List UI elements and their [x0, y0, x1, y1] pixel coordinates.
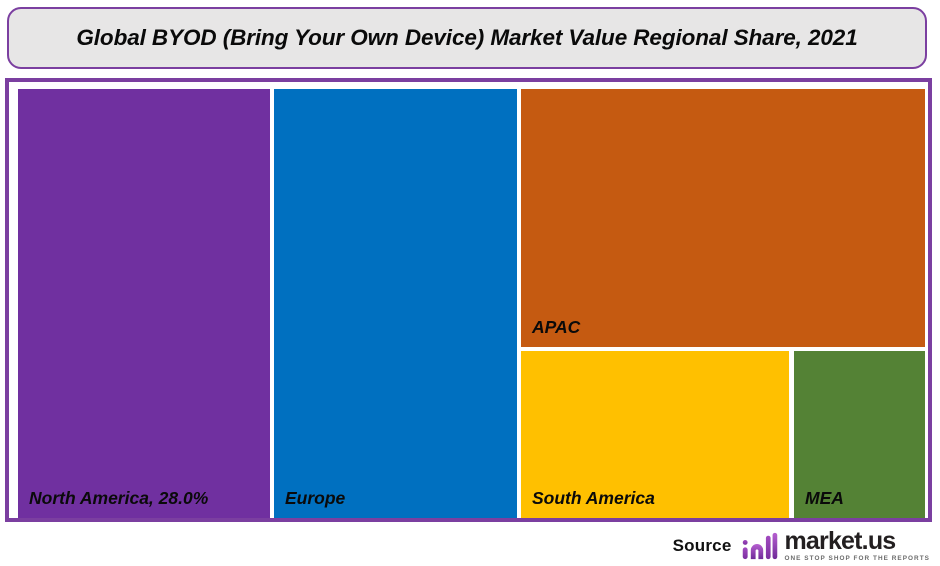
source-attribution: Source [673, 529, 930, 563]
treemap-plot-area: North America, 28.0% Europe APAC South A… [9, 82, 936, 526]
treemap-tile-north-america[interactable]: North America, 28.0% [18, 89, 270, 518]
treemap-tile-label-apac: APAC [532, 317, 580, 338]
market-us-bars-icon [741, 531, 779, 561]
treemap-tile-label-south-america: South America [532, 488, 655, 509]
market-us-wordmark: market.us [784, 530, 930, 554]
treemap-tile-apac[interactable]: APAC [521, 89, 925, 347]
treemap-tile-label-mea: MEA [805, 488, 844, 509]
treemap-tile-europe[interactable]: Europe [274, 89, 517, 518]
market-us-tagline: ONE STOP SHOP FOR THE REPORTS [784, 555, 930, 562]
treemap-tile-south-america[interactable]: South America [521, 351, 789, 518]
chart-title-box: Global BYOD (Bring Your Own Device) Mark… [7, 7, 927, 69]
treemap-chart-frame: North America, 28.0% Europe APAC South A… [5, 78, 932, 522]
source-label: Source [673, 536, 732, 556]
page-title: Global BYOD (Bring Your Own Device) Mark… [76, 25, 857, 51]
chart-footer: Source [0, 524, 940, 566]
treemap-tile-label-north-america: North America, 28.0% [29, 488, 208, 509]
market-us-wordmark-group: market.us ONE STOP SHOP FOR THE REPORTS [784, 530, 930, 563]
chart-page: Global BYOD (Bring Your Own Device) Mark… [0, 0, 940, 566]
treemap-tile-label-europe: Europe [285, 488, 345, 509]
treemap-tile-mea[interactable]: MEA [794, 351, 925, 518]
